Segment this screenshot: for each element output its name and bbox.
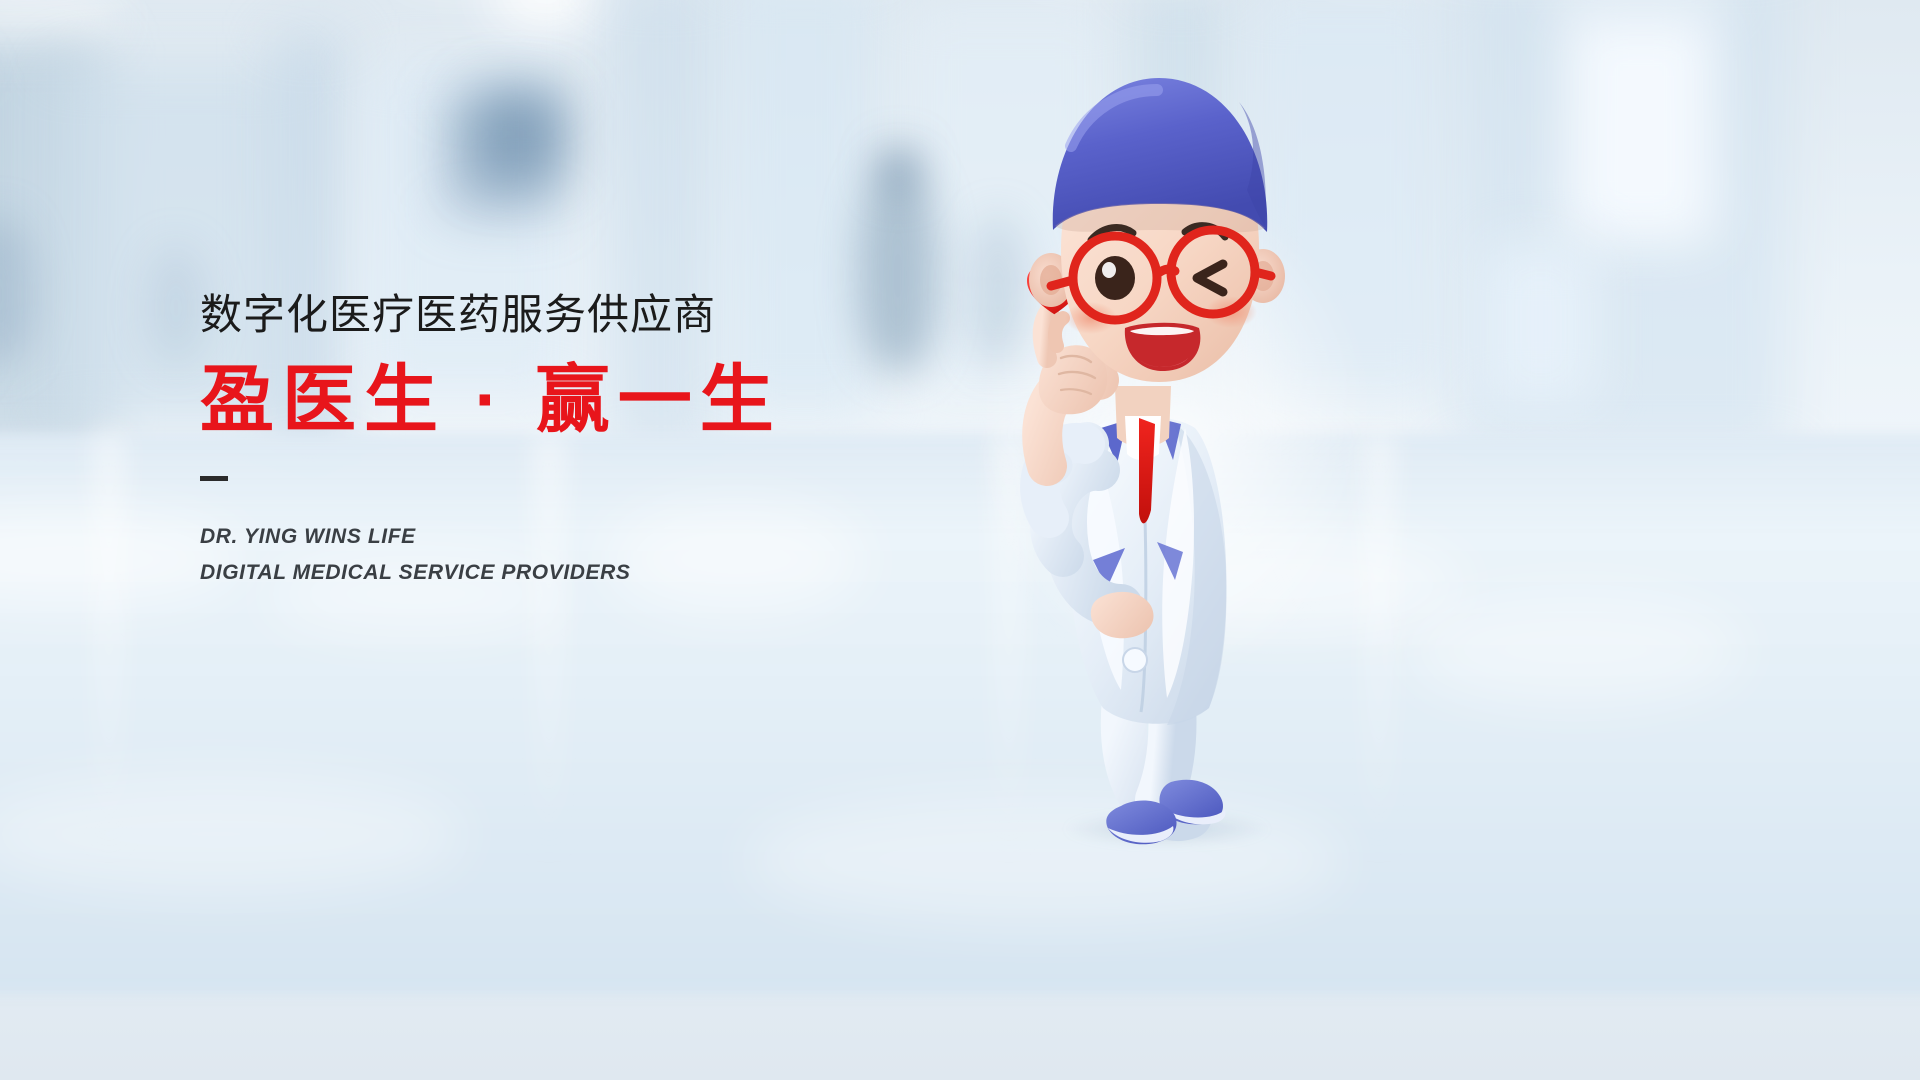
mascot-coat-button (1123, 648, 1147, 672)
mascot-head (1029, 78, 1285, 382)
floor-reflection (1406, 594, 1746, 704)
floor-reflection (96, 434, 122, 854)
mascot-eye-open (1095, 256, 1135, 300)
background-dark-recess (476, 89, 566, 179)
mascot-hand-lower (1091, 592, 1154, 638)
mascot-thumb (1055, 318, 1063, 346)
hero-english-line-2: DIGITAL MEDICAL SERVICE PROVIDERS (200, 555, 960, 591)
background-person (146, 244, 206, 364)
hero-divider (200, 476, 228, 481)
ceiling-light (486, 0, 606, 30)
hero-english-line-1: DR. YING WINS LIFE (200, 519, 960, 555)
background-window (1566, 14, 1716, 244)
hero-subheadline: 数字化医疗医药服务供应商 (200, 292, 960, 338)
mascot-doctor-illustration (975, 40, 1335, 840)
hero-headline: 盈医生 · 赢一生 (200, 360, 960, 440)
hero-banner: 数字化医疗医药服务供应商 盈医生 · 赢一生 DR. YING WINS LIF… (0, 0, 1920, 1080)
mascot-shoe-front (1106, 801, 1176, 845)
background-window (1486, 244, 1596, 404)
hero-copy: 数字化医疗医药服务供应商 盈医生 · 赢一生 DR. YING WINS LIF… (200, 292, 960, 591)
background-person (878, 146, 920, 192)
